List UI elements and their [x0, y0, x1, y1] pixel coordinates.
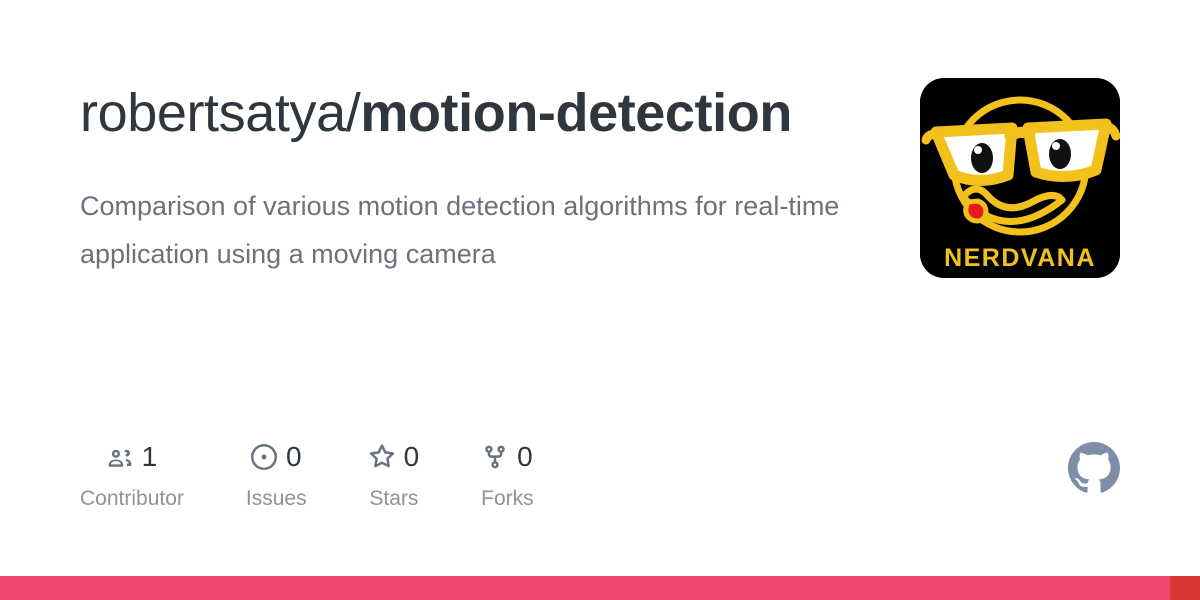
- repository-social-preview-card: robertsatya/motion-detection Comparison …: [0, 0, 1200, 600]
- stat-issues: 0 Issues: [246, 440, 307, 509]
- repo-description: Comparison of various motion detection a…: [80, 182, 870, 278]
- stat-label: Stars: [369, 488, 418, 509]
- stat-top: 0: [369, 440, 420, 474]
- repo-stats-row: 1 Contributor 0 Issues: [80, 440, 1120, 509]
- avatar: NERDVANA: [920, 78, 1120, 278]
- repo-forked-icon: [482, 444, 508, 470]
- star-icon: [369, 444, 395, 470]
- repo-owner[interactable]: robertsatya: [80, 83, 346, 143]
- language-segment-primary: [0, 576, 1170, 600]
- repo-name-separator: /: [346, 83, 361, 143]
- stat-contributors: 1 Contributor: [80, 440, 184, 509]
- stat-count: 0: [404, 443, 420, 471]
- stat-top: 0: [251, 440, 302, 474]
- header-row: robertsatya/motion-detection Comparison …: [80, 0, 1120, 278]
- card-body: robertsatya/motion-detection Comparison …: [0, 0, 1200, 600]
- github-mark-icon: [1068, 442, 1120, 494]
- stat-label: Issues: [246, 488, 307, 509]
- issue-opened-icon: [251, 444, 277, 470]
- stat-label: Contributor: [80, 488, 184, 509]
- stat-stars: 0 Stars: [369, 440, 420, 509]
- stat-label: Forks: [481, 488, 534, 509]
- header-text-block: robertsatya/motion-detection Comparison …: [80, 78, 870, 278]
- language-bar: [0, 576, 1200, 600]
- language-segment-secondary: [1170, 576, 1200, 600]
- repo-name[interactable]: motion-detection: [360, 83, 792, 143]
- people-icon: [107, 444, 133, 470]
- stat-count: 0: [517, 443, 533, 471]
- stat-count: 1: [142, 443, 158, 471]
- stat-top: 1: [107, 440, 158, 474]
- stat-top: 0: [482, 440, 533, 474]
- avatar-wordmark: NERDVANA: [944, 244, 1096, 272]
- page-title: robertsatya/motion-detection: [80, 78, 870, 148]
- stat-forks: 0 Forks: [481, 440, 534, 509]
- stat-count: 0: [286, 443, 302, 471]
